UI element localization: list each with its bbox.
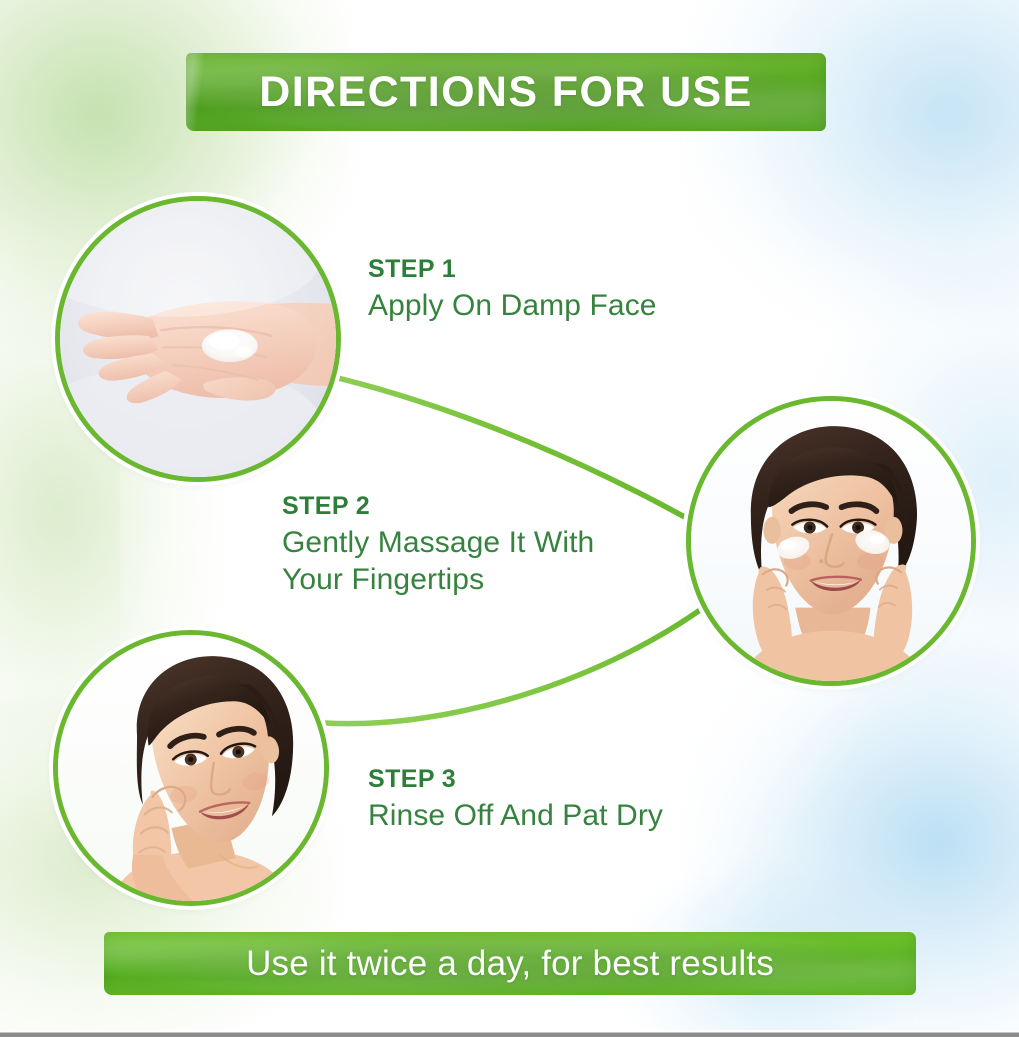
- step-1-description: Apply On Damp Face: [368, 288, 657, 325]
- step-3-description: Rinse Off And Pat Dry: [368, 798, 663, 835]
- open-palm-with-product-photo: [60, 201, 336, 477]
- infographic-canvas: DIRECTIONS FOR USE: [0, 0, 1019, 1037]
- title-banner-label: DIRECTIONS FOR USE: [259, 68, 752, 117]
- step-2-kicker: STEP 2: [282, 492, 594, 521]
- woman-clean-face-photo: [58, 635, 324, 901]
- step-2-description: Gently Massage It With Your Fingertips: [282, 525, 594, 599]
- footer-banner-label: Use it twice a day, for best results: [246, 944, 774, 984]
- title-banner: DIRECTIONS FOR USE: [186, 53, 826, 131]
- footer-banner: Use it twice a day, for best results: [104, 932, 916, 995]
- step-2-description-line-1: Gently Massage It With: [282, 526, 594, 559]
- step-1-photo-circle: [55, 196, 341, 482]
- step-2-description-line-2: Your Fingertips: [282, 563, 484, 596]
- step-1-kicker: STEP 1: [368, 255, 657, 284]
- background-wash-blue-top-right: [689, 0, 1019, 320]
- step-3-text-block: STEP 3 Rinse Off And Pat Dry: [368, 765, 663, 835]
- step-2-photo-circle: [686, 396, 976, 686]
- connector-step2-to-step3: [325, 610, 700, 724]
- bottom-edge-strip: [0, 1030, 1019, 1037]
- step-1-text-block: STEP 1 Apply On Damp Face: [368, 255, 657, 325]
- woman-massaging-face-photo: [691, 401, 971, 681]
- step-3-kicker: STEP 3: [368, 765, 663, 794]
- step-2-text-block: STEP 2 Gently Massage It With Your Finge…: [282, 492, 594, 599]
- step-3-photo-circle: [53, 630, 329, 906]
